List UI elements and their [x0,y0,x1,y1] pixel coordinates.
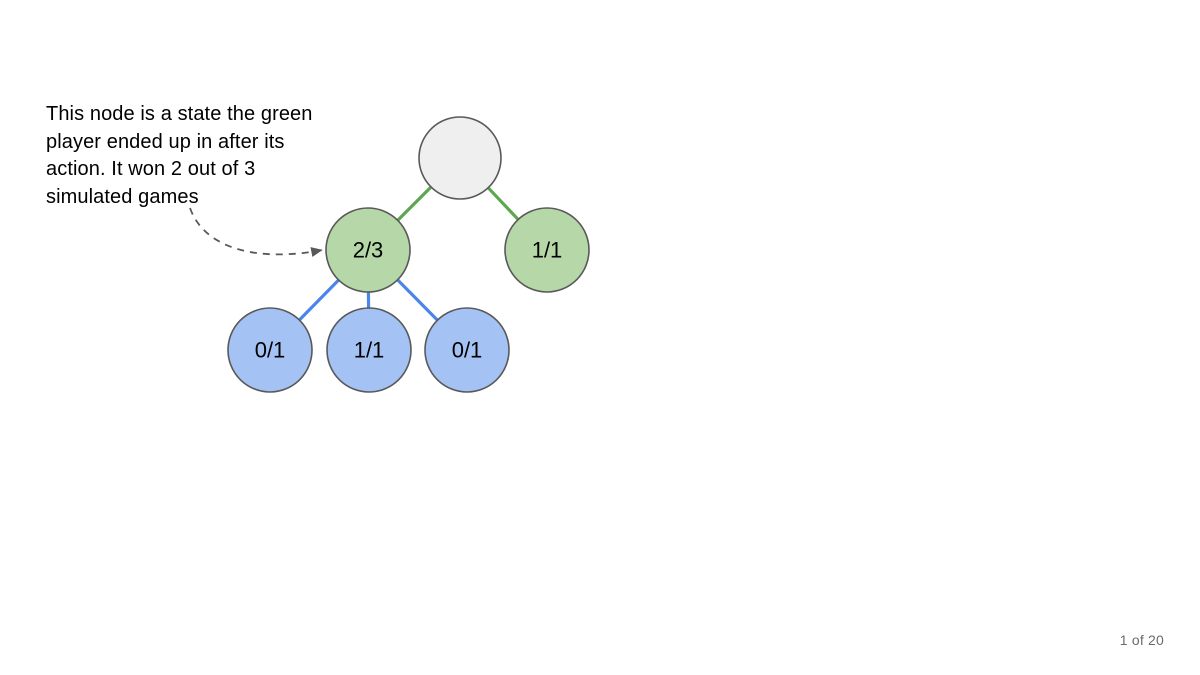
tree-edge [487,186,520,221]
tree-node[interactable]: 1/1 [327,308,411,392]
tree-edge [298,279,340,322]
tree-node-label: 0/1 [452,338,483,363]
tree-node[interactable]: 0/1 [228,308,312,392]
annotation-caption: This node is a state the green player en… [46,101,336,211]
tree-node-label: 1/1 [532,238,563,263]
tree-node-label: 2/3 [353,238,384,263]
tree-node[interactable] [419,117,501,199]
tree-node[interactable]: 1/1 [505,208,589,292]
tree-node[interactable]: 2/3 [326,208,410,292]
tree-node[interactable]: 0/1 [425,308,509,392]
tree-node-label: 0/1 [255,338,286,363]
page-indicator: 1 of 20 [1120,632,1164,648]
tree-node-label: 1/1 [354,338,385,363]
tree-edge [396,186,432,222]
tree-node-circle[interactable] [419,117,501,199]
tree-edge [396,278,439,321]
annotation-pointer-arrow [190,208,322,254]
slide-canvas: 2/31/10/11/10/1 This node is a state the… [0,0,1200,675]
